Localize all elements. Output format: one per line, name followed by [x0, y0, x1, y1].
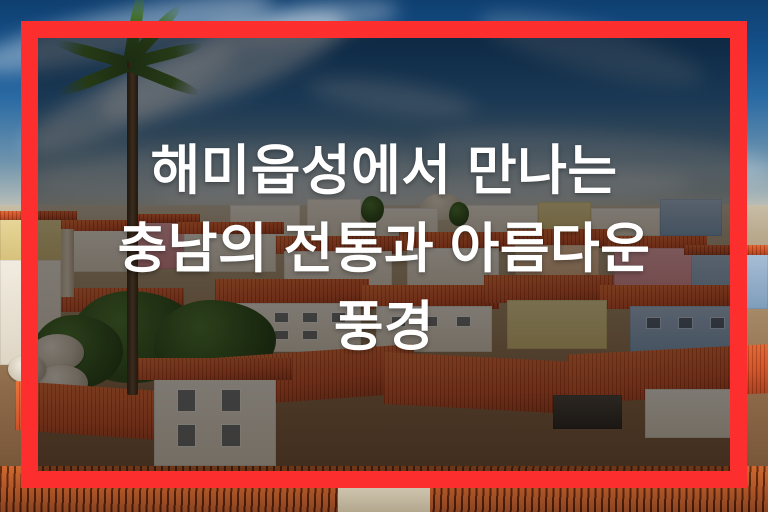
foreground-house	[154, 374, 277, 466]
foreground-wall	[338, 479, 430, 512]
background-photo	[0, 0, 768, 512]
chimney	[61, 229, 73, 297]
satellite-dish	[8, 355, 46, 383]
thumbnail-canvas: 해미읍성에서 만나는 충남의 전통과 아름다운 풍경	[0, 0, 768, 512]
palm-trunk	[127, 57, 139, 395]
rooftop-shed	[553, 395, 622, 429]
